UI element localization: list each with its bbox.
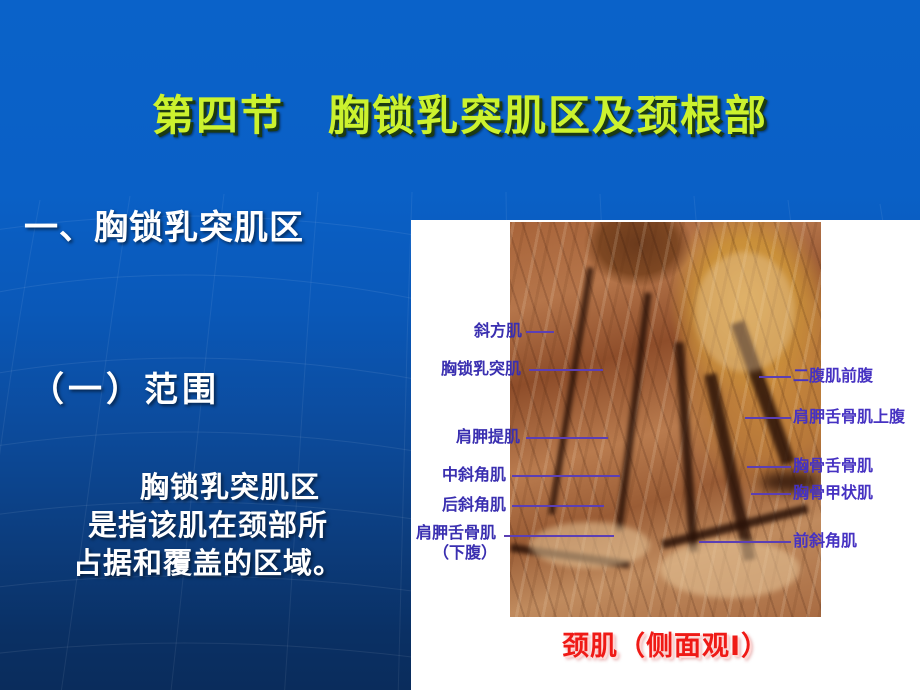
figure-caption: 颈肌（侧面观Ⅰ） xyxy=(411,624,920,663)
figure-label-omohyoid-inferior-sub: （下腹） xyxy=(433,543,497,563)
figure-label-anterior-scalene: 前斜角肌 xyxy=(793,531,857,551)
leader-line xyxy=(699,541,791,543)
leader-line xyxy=(745,417,791,419)
figure-label-trapezius: 斜方肌 xyxy=(474,321,522,341)
page-title: 第四节 胸锁乳突肌区及颈根部 xyxy=(0,82,920,143)
figure-label-digastric-anterior-belly: 二腹肌前腹 xyxy=(793,366,873,386)
photo-highlight xyxy=(530,522,650,568)
body-text: 胸锁乳突肌区 是指该肌在颈部所 占据和覆盖的区域。 xyxy=(8,468,408,582)
figure-label-sternothyroid: 胸骨甲状肌 xyxy=(793,483,873,503)
figure-label-omohyoid-superior: 肩胛舌骨肌上腹 xyxy=(793,407,905,427)
body-line-3: 占据和覆盖的区域。 xyxy=(8,544,408,582)
leader-line xyxy=(526,331,554,333)
figure-label-posterior-scalene: 后斜角肌 xyxy=(442,495,506,515)
body-line-2: 是指该肌在颈部所 xyxy=(8,506,408,544)
leader-line xyxy=(759,376,791,378)
photo-highlight xyxy=(660,540,800,598)
figure-label-levator-scapulae: 肩胛提肌 xyxy=(456,427,520,447)
leader-line xyxy=(747,466,791,468)
figure-label-middle-scalene: 中斜角肌 xyxy=(442,465,506,485)
section-heading-2: （一）范围 xyxy=(30,362,220,411)
figure-label-sternocleidomastoid: 胸锁乳突肌 xyxy=(441,359,521,379)
body-line-1: 胸锁乳突肌区 xyxy=(8,468,408,506)
figure-label-sternohyoid: 胸骨舌骨肌 xyxy=(793,456,873,476)
figure-label-omohyoid-inferior: 肩胛舌骨肌 xyxy=(416,523,496,543)
anatomy-photograph xyxy=(510,222,821,617)
section-heading-1: 一、胸锁乳突肌区 xyxy=(24,200,304,249)
leader-line xyxy=(751,493,791,495)
leader-line xyxy=(512,475,620,477)
leader-line xyxy=(512,505,604,507)
leader-line xyxy=(526,437,608,439)
photo-highlight xyxy=(695,252,795,372)
slide-canvas: 第四节 胸锁乳突肌区及颈根部 一、胸锁乳突肌区 （一）范围 胸锁乳突肌区 是指该… xyxy=(0,0,920,690)
figure-panel: 斜方肌 胸锁乳突肌 肩胛提肌 中斜角肌 后斜角肌 肩胛舌骨肌 （下腹） 二腹肌前… xyxy=(411,220,920,690)
leader-line xyxy=(529,369,603,371)
figure-label-omohyoid-inferior-line2: （下腹） xyxy=(433,543,497,562)
leader-line xyxy=(504,535,614,537)
figure-label-omohyoid-inferior-line1: 肩胛舌骨肌 xyxy=(416,523,496,542)
